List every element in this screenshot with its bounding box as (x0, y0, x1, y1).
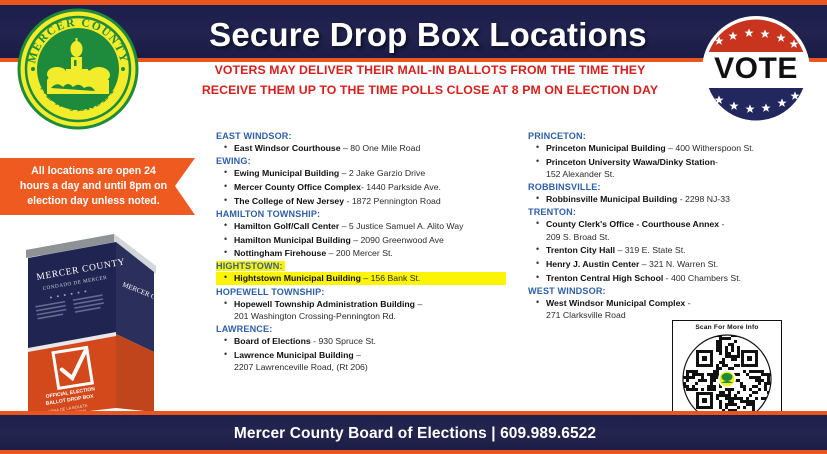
locations-column-right: PRINCETON:Princeton Municipal Building –… (528, 131, 827, 323)
location-name: West Windsor Municipal Complex (546, 298, 685, 308)
location-name: Trenton City Hall (546, 245, 615, 255)
hours-ribbon-line-1: All locations are open 24 (31, 165, 156, 177)
location-name: Trenton Central High School (546, 273, 663, 283)
location-item: Princeton Municipal Building – 400 Withe… (528, 142, 827, 154)
location-name: Princeton University Wawa/Dinky Station (546, 157, 715, 167)
location-item: Ewing Municipal Building – 2 Jake Garzio… (216, 167, 506, 179)
location-item: Henry J. Austin Center – 321 N. Warren S… (528, 258, 827, 270)
hours-ribbon-line-3: election day unless noted. (27, 195, 159, 207)
location-address: - 2298 NJ-33 (677, 194, 730, 204)
city-heading: EAST WINDSOR: (216, 131, 506, 141)
location-name: Hamilton Municipal Building (234, 235, 351, 245)
location-list: West Windsor Municipal Complex -271 Clar… (528, 297, 827, 321)
location-name: Hamilton Golf/Call Center (234, 221, 339, 231)
city-heading: HIGHTSTOWN: (216, 261, 285, 271)
location-item: Mercer County Office Complex- 1440 Parks… (216, 181, 506, 193)
location-list: County Clerk's Office - Courthouse Annex… (528, 218, 827, 284)
location-item: Hopewell Township Administration Buildin… (216, 298, 506, 322)
location-item: Hamilton Golf/Call Center – 5 Justice Sa… (216, 220, 506, 232)
location-name: The College of New Jersey (234, 196, 344, 206)
location-address-line-2: 152 Alexander St. (546, 168, 827, 180)
location-address: – 2 Jake Garzio Drive (339, 168, 425, 178)
ballot-drop-box-photo: MERCER COUNTY CONDADO DE MERCER OFFICIAL… (18, 222, 158, 422)
location-list: Hamilton Golf/Call Center – 5 Justice Sa… (216, 220, 506, 260)
location-name: Robbinsville Municipal Building (546, 194, 677, 204)
svg-text:VOTE: VOTE (714, 52, 798, 85)
voter-notice-line-1: VOTERS MAY DELIVER THEIR MAIL-IN BALLOTS… (160, 60, 700, 80)
location-address: – 319 E. State St. (615, 245, 686, 255)
poster: Secure Drop Box Locations MERCER COUNTY … (0, 0, 827, 454)
location-item: Board of Elections - 930 Spruce St. (216, 335, 506, 347)
location-address-line-2: 2207 Lawrenceville Road, (Rt 206) (234, 361, 506, 373)
location-item: Trenton Central High School - 400 Chambe… (528, 272, 827, 284)
location-item: County Clerk's Office - Courthouse Annex… (528, 218, 827, 242)
city-heading: TRENTON: (528, 207, 827, 217)
location-item: East Windsor Courthouse – 80 One Mile Ro… (216, 142, 506, 154)
location-address: – (354, 350, 361, 360)
location-item: Hamilton Municipal Building – 2090 Green… (216, 234, 506, 246)
location-address: – 321 N. Warren St. (639, 259, 718, 269)
location-address: – 2090 Greenwood Ave (351, 235, 444, 245)
location-name: Henry J. Austin Center (546, 259, 639, 269)
location-name: Nottingham Firehouse (234, 248, 326, 258)
location-address: - (715, 157, 718, 167)
hours-ribbon-line-2: hours a day and until 8pm on (20, 180, 167, 192)
city-heading: LAWRENCE: (216, 324, 506, 334)
location-name: Lawrence Municipal Building (234, 350, 354, 360)
location-name: East Windsor Courthouse (234, 143, 341, 153)
location-list: Board of Elections - 930 Spruce St.Lawre… (216, 335, 506, 373)
location-address: – 5 Justice Samuel A. Alito Way (339, 221, 463, 231)
location-item: Lawrence Municipal Building –2207 Lawren… (216, 349, 506, 373)
location-address: – (415, 299, 422, 309)
mercer-county-seal-icon: MERCER COUNTY NEW JERSEY (17, 8, 139, 130)
footer-stripe-bottom (0, 450, 827, 454)
page-title: Secure Drop Box Locations (168, 13, 688, 57)
vote-badge-icon: VOTE (697, 14, 815, 126)
location-address: – 80 One Mile Road (341, 143, 421, 153)
location-list: Ewing Municipal Building – 2 Jake Garzio… (216, 167, 506, 207)
location-item: West Windsor Municipal Complex -271 Clar… (528, 297, 827, 321)
city-heading: HAMILTON TOWNSHIP: (216, 209, 506, 219)
location-item: Trenton City Hall – 319 E. State St. (528, 244, 827, 256)
location-address: - 930 Spruce St. (311, 336, 376, 346)
city-heading: ROBBINSVILLE: (528, 182, 827, 192)
locations-column-left: EAST WINDSOR:East Windsor Courthouse – 8… (216, 131, 506, 375)
location-address: - (719, 219, 724, 229)
location-address: – 156 Bank St. (361, 273, 420, 283)
city-heading: PRINCETON: (528, 131, 827, 141)
location-item: Princeton University Wawa/Dinky Station-… (528, 156, 827, 180)
location-item: Nottingham Firehouse – 200 Mercer St. (216, 247, 506, 259)
footer-stripe-top (0, 411, 827, 415)
location-list: Robbinsville Municipal Building - 2298 N… (528, 193, 827, 205)
location-list: East Windsor Courthouse – 80 One Mile Ro… (216, 142, 506, 154)
location-item: Robbinsville Municipal Building - 2298 N… (528, 193, 827, 205)
footer-contact: Mercer County Board of Elections | 609.9… (180, 421, 650, 447)
city-heading: WEST WINDSOR: (528, 286, 827, 296)
header-stripe-top (0, 0, 827, 5)
location-name: Hopewell Township Administration Buildin… (234, 299, 415, 309)
voter-notice-line-2: RECEIVE THEM UP TO THE TIME POLLS CLOSE … (160, 80, 700, 100)
location-name: County Clerk's Office - Courthouse Annex (546, 219, 719, 229)
qr-label: Scan For More Info (673, 324, 781, 331)
location-name: Hightstown Municipal Building (234, 273, 361, 283)
location-address: - 1872 Pennington Road (344, 196, 441, 206)
location-address-line-2: 209 S. Broad St. (546, 231, 827, 243)
location-item: The College of New Jersey - 1872 Penning… (216, 195, 506, 207)
city-heading: EWING: (216, 156, 506, 166)
location-name: Ewing Municipal Building (234, 168, 339, 178)
location-address-line-2: 201 Washington Crossing-Pennington Rd. (234, 310, 506, 322)
location-list: Hightstown Municipal Building – 156 Bank… (216, 272, 506, 284)
location-address: - 400 Chambers St. (663, 273, 741, 283)
location-name: Board of Elections (234, 336, 311, 346)
location-list: Hopewell Township Administration Buildin… (216, 298, 506, 322)
location-list: Princeton Municipal Building – 400 Withe… (528, 142, 827, 180)
location-address: - (685, 298, 690, 308)
location-name: Mercer County Office Complex (234, 182, 361, 192)
location-address: – 200 Mercer St. (326, 248, 393, 258)
city-heading: HOPEWELL TOWNSHIP: (216, 287, 506, 297)
hours-ribbon: All locations are open 24 hours a day an… (0, 158, 195, 215)
location-address: – 400 Witherspoon St. (666, 143, 754, 153)
location-address: - 1440 Parkside Ave. (361, 182, 441, 192)
location-item: Hightstown Municipal Building – 156 Bank… (216, 272, 506, 284)
voter-notice: VOTERS MAY DELIVER THEIR MAIL-IN BALLOTS… (160, 60, 700, 100)
location-name: Princeton Municipal Building (546, 143, 666, 153)
